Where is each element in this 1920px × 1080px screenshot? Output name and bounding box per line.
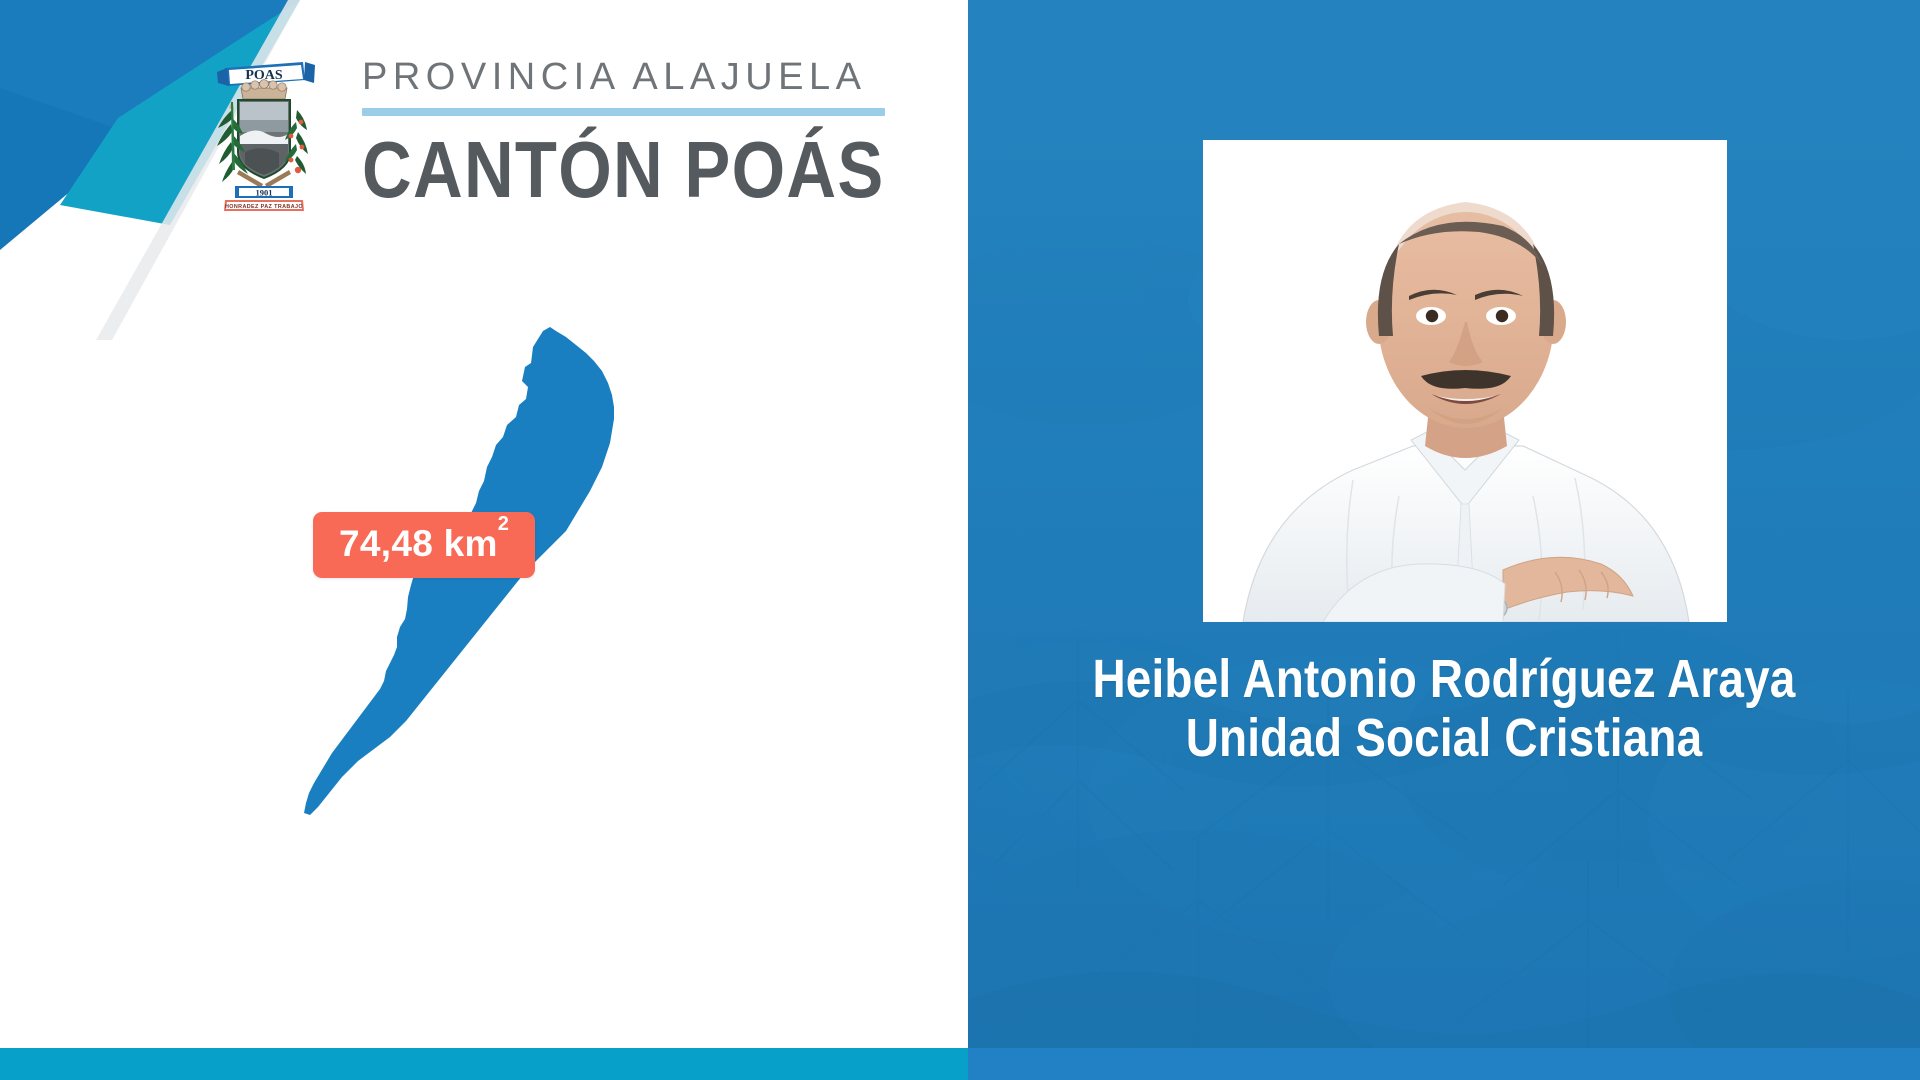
canton-map-shape [300,325,720,845]
left-panel: POAS [0,0,968,1080]
candidate-photo [1203,140,1727,622]
candidate-party: Unidad Social Cristiana [1039,709,1848,768]
right-panel: Heibel Antonio Rodríguez Araya Unidad So… [968,0,1920,1080]
right-bottom-accent-bar [968,1048,1920,1080]
area-exponent: 2 [498,513,509,535]
area-value: 74,48 km [339,523,498,564]
header-block: PROVINCIA ALAJUELA CANTÓN POÁS [362,58,892,210]
left-bottom-accent-bar [0,1048,968,1080]
canton-coat-of-arms-icon: POAS [205,52,323,212]
header-divider [362,108,885,116]
area-badge: 74,48 km2 [313,512,535,578]
province-label: PROVINCIA ALAJUELA [362,58,892,98]
page-title: CANTÓN POÁS [362,130,818,210]
candidate-info: Heibel Antonio Rodríguez Araya Unidad So… [968,650,1920,769]
infographic-canvas: POAS [0,0,1920,1080]
crest-motto-label: HONRADEZ PAZ TRABAJO [225,204,303,210]
candidate-name: Heibel Antonio Rodríguez Araya [1039,650,1848,709]
crest-year-label: 1901 [256,188,273,198]
